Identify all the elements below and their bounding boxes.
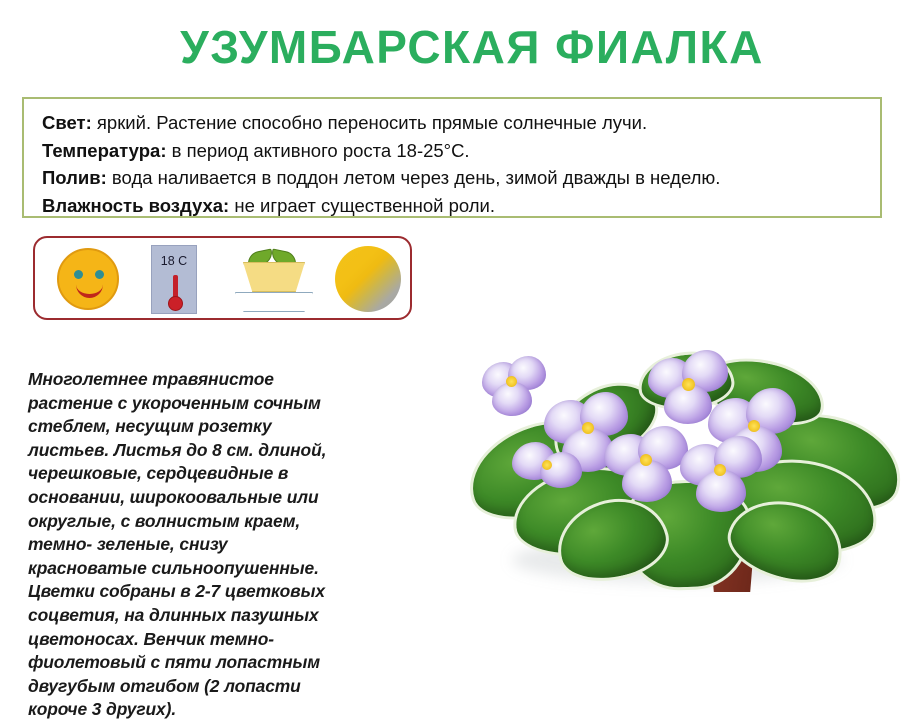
flower-center bbox=[506, 376, 517, 387]
smiley-face-circle bbox=[57, 248, 119, 310]
flower-petal bbox=[540, 452, 582, 488]
care-label-light: Свет: bbox=[42, 112, 92, 133]
flower-petal bbox=[492, 382, 532, 416]
flower-center bbox=[682, 378, 695, 391]
care-line-humidity: Влажность воздуха: не играет существенно… bbox=[42, 192, 866, 220]
african-violet-photo bbox=[452, 332, 910, 632]
flower-center bbox=[714, 464, 726, 476]
care-text-watering: вода наливается в поддон летом через ден… bbox=[107, 167, 721, 188]
thermometer-icon: 18 C bbox=[145, 238, 215, 318]
care-line-light: Свет: яркий. Растение способно переносит… bbox=[42, 109, 866, 137]
flower-center bbox=[542, 460, 552, 470]
smiley-eye-left-icon bbox=[74, 270, 83, 279]
care-icon-strip: 18 C bbox=[33, 236, 412, 320]
care-text-humidity: не играет существенной роли. bbox=[229, 195, 495, 216]
care-info-box: Свет: яркий. Растение способно переносит… bbox=[22, 97, 882, 218]
thermometer-bulb-icon bbox=[168, 296, 183, 311]
care-label-temperature: Температура: bbox=[42, 140, 166, 161]
smiley-mouth-icon bbox=[76, 283, 103, 298]
pot-body-icon bbox=[243, 262, 305, 292]
care-label-watering: Полив: bbox=[42, 167, 107, 188]
smiley-eye-right-icon bbox=[95, 270, 104, 279]
thermometer-card: 18 C bbox=[151, 245, 197, 314]
care-text-light: яркий. Растение способно переносить прям… bbox=[92, 112, 647, 133]
care-text-temperature: в период активного роста 18-25°C. bbox=[166, 140, 469, 161]
flower-petal bbox=[622, 460, 672, 502]
plant-illustration bbox=[452, 332, 910, 632]
care-label-humidity: Влажность воздуха: bbox=[42, 195, 229, 216]
care-line-watering: Полив: вода наливается в поддон летом че… bbox=[42, 164, 866, 192]
flower-center bbox=[640, 454, 652, 466]
plant-pot-tray-icon bbox=[227, 238, 323, 318]
sun-circle-shape bbox=[335, 246, 401, 312]
smiley-face-icon bbox=[53, 238, 133, 318]
page-title: УЗУМБАРСКАЯ ФИАЛКА bbox=[0, 24, 910, 70]
flower-center bbox=[748, 420, 760, 432]
flower-center bbox=[582, 422, 594, 434]
plant-description-text: Многолетнее травянистое растение с укоро… bbox=[28, 368, 350, 722]
flower-petal bbox=[696, 470, 746, 512]
sun-gradient-icon bbox=[327, 238, 407, 318]
care-line-temperature: Температура: в период активного роста 18… bbox=[42, 137, 866, 165]
thermometer-value: 18 C bbox=[152, 254, 196, 268]
pot-tray-icon bbox=[235, 292, 313, 312]
